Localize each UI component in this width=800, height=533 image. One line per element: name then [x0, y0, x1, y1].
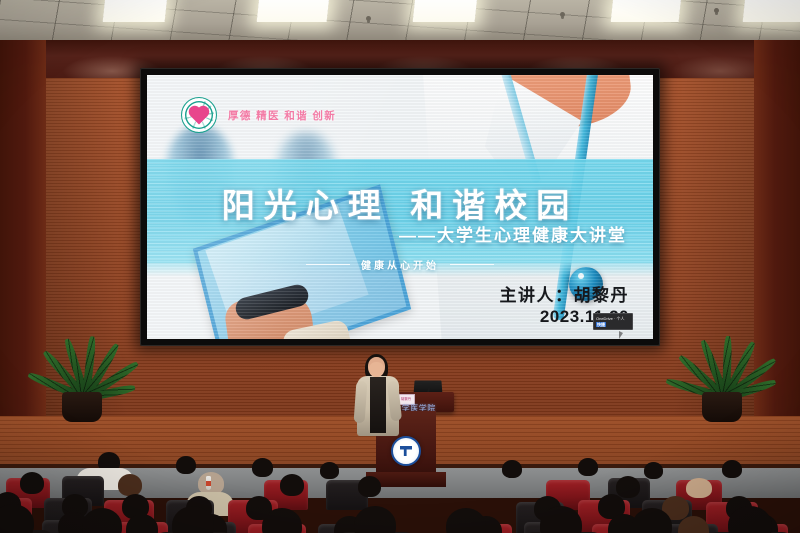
- audience-head: [678, 516, 709, 533]
- audience-head: [728, 506, 772, 533]
- plant-pot: [702, 392, 742, 422]
- audience-head: [280, 474, 304, 496]
- potted-palm-left: [22, 330, 142, 422]
- audience-head: [358, 476, 381, 497]
- onedrive-tooltip-chip: 快捷: [596, 322, 606, 327]
- audience-head: [20, 472, 44, 494]
- audience-head: [686, 478, 712, 498]
- audience-head: [118, 474, 142, 496]
- audience-head: [320, 462, 339, 479]
- slide-subtitle: ——大学生心理健康大讲堂: [399, 221, 627, 246]
- audience-head: [354, 506, 396, 533]
- ceiling: [0, 0, 800, 42]
- ceiling-sensor-icon: [366, 16, 371, 21]
- audience-head: [262, 508, 302, 533]
- university-seal-icon: [181, 97, 217, 133]
- ceiling-light-panel: [413, 0, 478, 22]
- audience-head: [616, 476, 640, 498]
- audience-head: [502, 460, 522, 478]
- slide-tagline: 健康从心开始: [147, 257, 653, 272]
- ceiling-sensor-icon: [560, 12, 565, 17]
- audience-head: [446, 508, 486, 533]
- slide-header: 厚德 精医 和谐 创新: [181, 97, 336, 133]
- tagline-text: 健康从心开始: [361, 257, 439, 272]
- ceiling-light-panel: [103, 0, 168, 22]
- ceiling-sensor-icon: [714, 8, 719, 13]
- ceiling-light-panel: [611, 0, 682, 22]
- lecture-hall-photo: 厚德 精医 和谐 创新 阳光心理 和谐校园 ——大学生心理健康大讲堂 健康从心开…: [0, 0, 800, 533]
- audience-head: [176, 456, 196, 474]
- ceiling-light-panel: [257, 0, 330, 22]
- onedrive-tooltip-badge[interactable]: OneDrive · 个人 快捷: [593, 313, 633, 330]
- audience-head: [578, 458, 598, 476]
- water-bottle: [206, 476, 211, 490]
- plant-pot: [62, 392, 102, 422]
- slide-speaker-label: 主讲人：胡黎丹: [500, 281, 630, 306]
- tagline-rule-right: [450, 264, 494, 266]
- audience-head: [644, 462, 663, 479]
- tagline-rule-left: [306, 264, 350, 266]
- audience-seating: [0, 436, 800, 533]
- audience-head: [540, 506, 582, 533]
- slide-motto: 厚德 精医 和谐 创新: [228, 108, 336, 123]
- speaker-face: [369, 362, 384, 377]
- slide-content: 厚德 精医 和谐 创新 阳光心理 和谐校园 ——大学生心理健康大讲堂 健康从心开…: [147, 75, 653, 339]
- audience-head: [252, 458, 273, 477]
- onedrive-tooltip-line2: 快捷: [596, 322, 630, 328]
- speaker-person: [357, 357, 399, 443]
- mouse-pointer-icon: [619, 331, 623, 339]
- ceiling-light-panel: [743, 0, 800, 22]
- speaker-inner-top: [370, 377, 386, 433]
- slide-title: 阳光心理 和谐校园: [147, 179, 653, 227]
- audience-head: [722, 460, 742, 478]
- led-presentation-screen[interactable]: 厚德 精医 和谐 创新 阳光心理 和谐校园 ——大学生心理健康大讲堂 健康从心开…: [140, 68, 660, 346]
- potted-palm-right: [662, 334, 782, 422]
